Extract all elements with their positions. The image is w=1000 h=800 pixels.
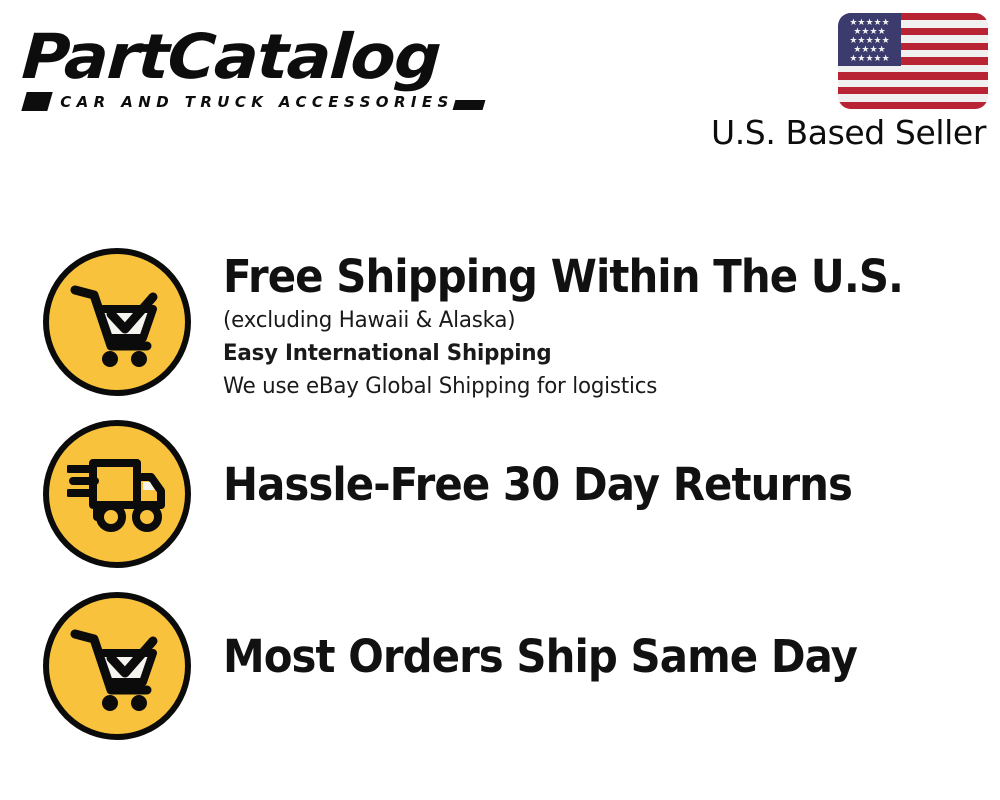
feature-text-block: Free Shipping Within The U.S. (excluding… [191,248,983,403]
logo-slash-left-icon [21,92,52,111]
feature-subline: We use eBay Global Shipping for logistic… [223,370,960,403]
logo-slash-right-icon [453,100,486,110]
shopping-cart-check-icon [43,592,191,740]
us-based-seller-label: U.S. Based Seller [711,113,986,153]
feature-title: Free Shipping Within The U.S. [223,250,930,304]
feature-item: Hassle-Free 30 Day Returns [43,420,983,568]
brand-logo-tagline-row: CAR AND TRUCK ACCESSORIES [22,92,484,111]
brand-logo-tagline: CAR AND TRUCK ACCESSORIES [50,93,454,111]
feature-text-block: Most Orders Ship Same Day [191,592,983,684]
feature-subline: Easy International Shipping [223,337,960,370]
brand-logo[interactable]: PartCatalog CAR AND TRUCK ACCESSORIES [22,24,492,114]
feature-title: Most Orders Ship Same Day [223,630,930,684]
feature-item: Free Shipping Within The U.S. (excluding… [43,248,983,403]
page-header: PartCatalog CAR AND TRUCK ACCESSORIES ★★… [0,0,1000,172]
feature-subline: (excluding Hawaii & Alaska) [223,304,960,337]
feature-title: Hassle-Free 30 Day Returns [223,458,930,512]
flag-canton: ★★★★★ ★★★★ ★★★★★ ★★★★ ★★★★★ [838,13,901,66]
delivery-truck-icon [43,420,191,568]
feature-text-block: Hassle-Free 30 Day Returns [191,420,983,512]
us-flag-icon: ★★★★★ ★★★★ ★★★★★ ★★★★ ★★★★★ [838,13,988,109]
feature-item: Most Orders Ship Same Day [43,592,983,740]
shopping-cart-check-icon [43,248,191,396]
brand-logo-wordmark: PartCatalog [20,24,522,90]
